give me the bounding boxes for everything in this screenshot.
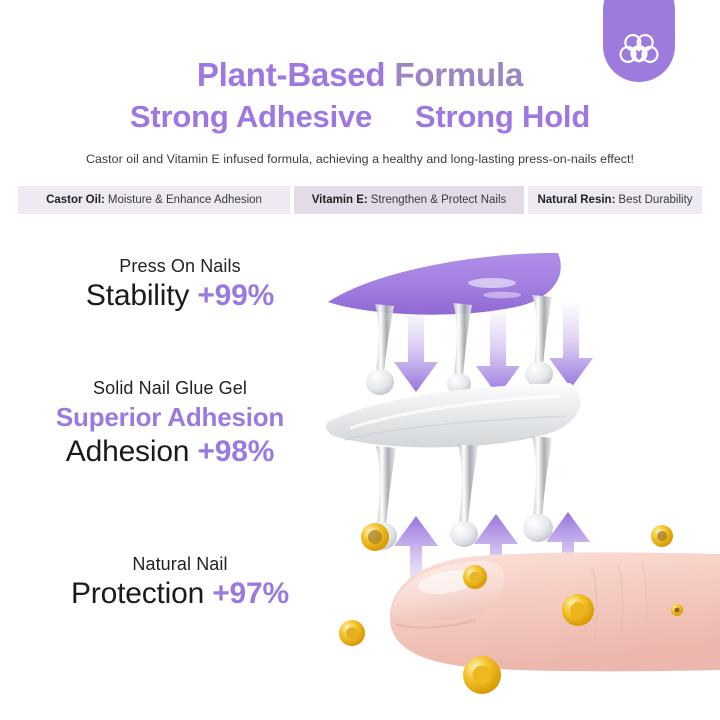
stat-adhesion-value-row: Adhesion +98% bbox=[10, 435, 330, 469]
stat-protection-percent: +97% bbox=[212, 577, 289, 610]
feature-pill-row: Castor Oil: Moisture & Enhance Adhesion … bbox=[18, 186, 702, 214]
headline-line-1: Plant-Based Formula bbox=[0, 58, 720, 91]
feature-pill-castor-oil-text: Moisture & Enhance Adhesion bbox=[108, 194, 262, 206]
headline: Plant-Based Formula Strong Adhesive Stro… bbox=[0, 58, 720, 132]
headline-plant-based: Plant-Based bbox=[197, 56, 386, 93]
purple-press-on-nail-icon bbox=[328, 253, 561, 315]
headline-line-2: Strong Adhesive Strong Hold bbox=[0, 101, 720, 132]
stat-protection-kicker: Natural Nail bbox=[20, 554, 340, 575]
fingertip-photo-icon bbox=[390, 552, 720, 671]
stat-block-adhesion: Solid Nail Glue Gel Superior Adhesion Ad… bbox=[10, 378, 330, 469]
fingertip-group bbox=[330, 520, 720, 720]
feature-pill-vitamin-e-label: Vitamin E: bbox=[312, 194, 368, 206]
stat-stability-label: Stability bbox=[86, 279, 189, 312]
feature-pill-castor-oil: Castor Oil: Moisture & Enhance Adhesion bbox=[18, 186, 290, 214]
stat-stability-value-row: Stability +99% bbox=[20, 279, 340, 313]
stat-adhesion-kicker: Solid Nail Glue Gel bbox=[10, 378, 330, 399]
feature-pill-vitamin-e-text: Strengthen & Protect Nails bbox=[371, 194, 507, 206]
down-arrow-icon bbox=[394, 302, 593, 396]
stat-adhesion-percent: +98% bbox=[197, 435, 274, 468]
feature-pill-vitamin-e: Vitamin E: Strengthen & Protect Nails bbox=[294, 186, 524, 214]
stat-stability-percent: +99% bbox=[197, 279, 274, 312]
subtitle-text: Castor oil and Vitamin E infused formula… bbox=[0, 152, 720, 166]
stat-adhesion-headline: Superior Adhesion bbox=[10, 402, 330, 433]
stat-block-protection: Natural Nail Protection +97% bbox=[20, 554, 340, 611]
stat-protection-value-row: Protection +97% bbox=[20, 577, 340, 611]
feature-pill-natural-resin-label: Natural Resin: bbox=[537, 194, 615, 206]
headline-strong-hold: Strong Hold bbox=[415, 99, 590, 134]
feature-pill-natural-resin: Natural Resin: Best Durability bbox=[528, 186, 702, 214]
feature-pill-natural-resin-text: Best Durability bbox=[618, 194, 692, 206]
headline-formula: Formula bbox=[394, 56, 523, 93]
feature-pill-castor-oil-label: Castor Oil: bbox=[46, 194, 105, 206]
stat-block-stability: Press On Nails Stability +99% bbox=[20, 256, 340, 313]
stat-stability-kicker: Press On Nails bbox=[20, 256, 340, 277]
headline-strong-adhesive: Strong Adhesive bbox=[130, 99, 372, 134]
stat-adhesion-label: Adhesion bbox=[66, 435, 190, 468]
poster-root: Plant-Based Formula Strong Adhesive Stro… bbox=[0, 0, 720, 720]
stat-protection-label: Protection bbox=[71, 577, 204, 610]
